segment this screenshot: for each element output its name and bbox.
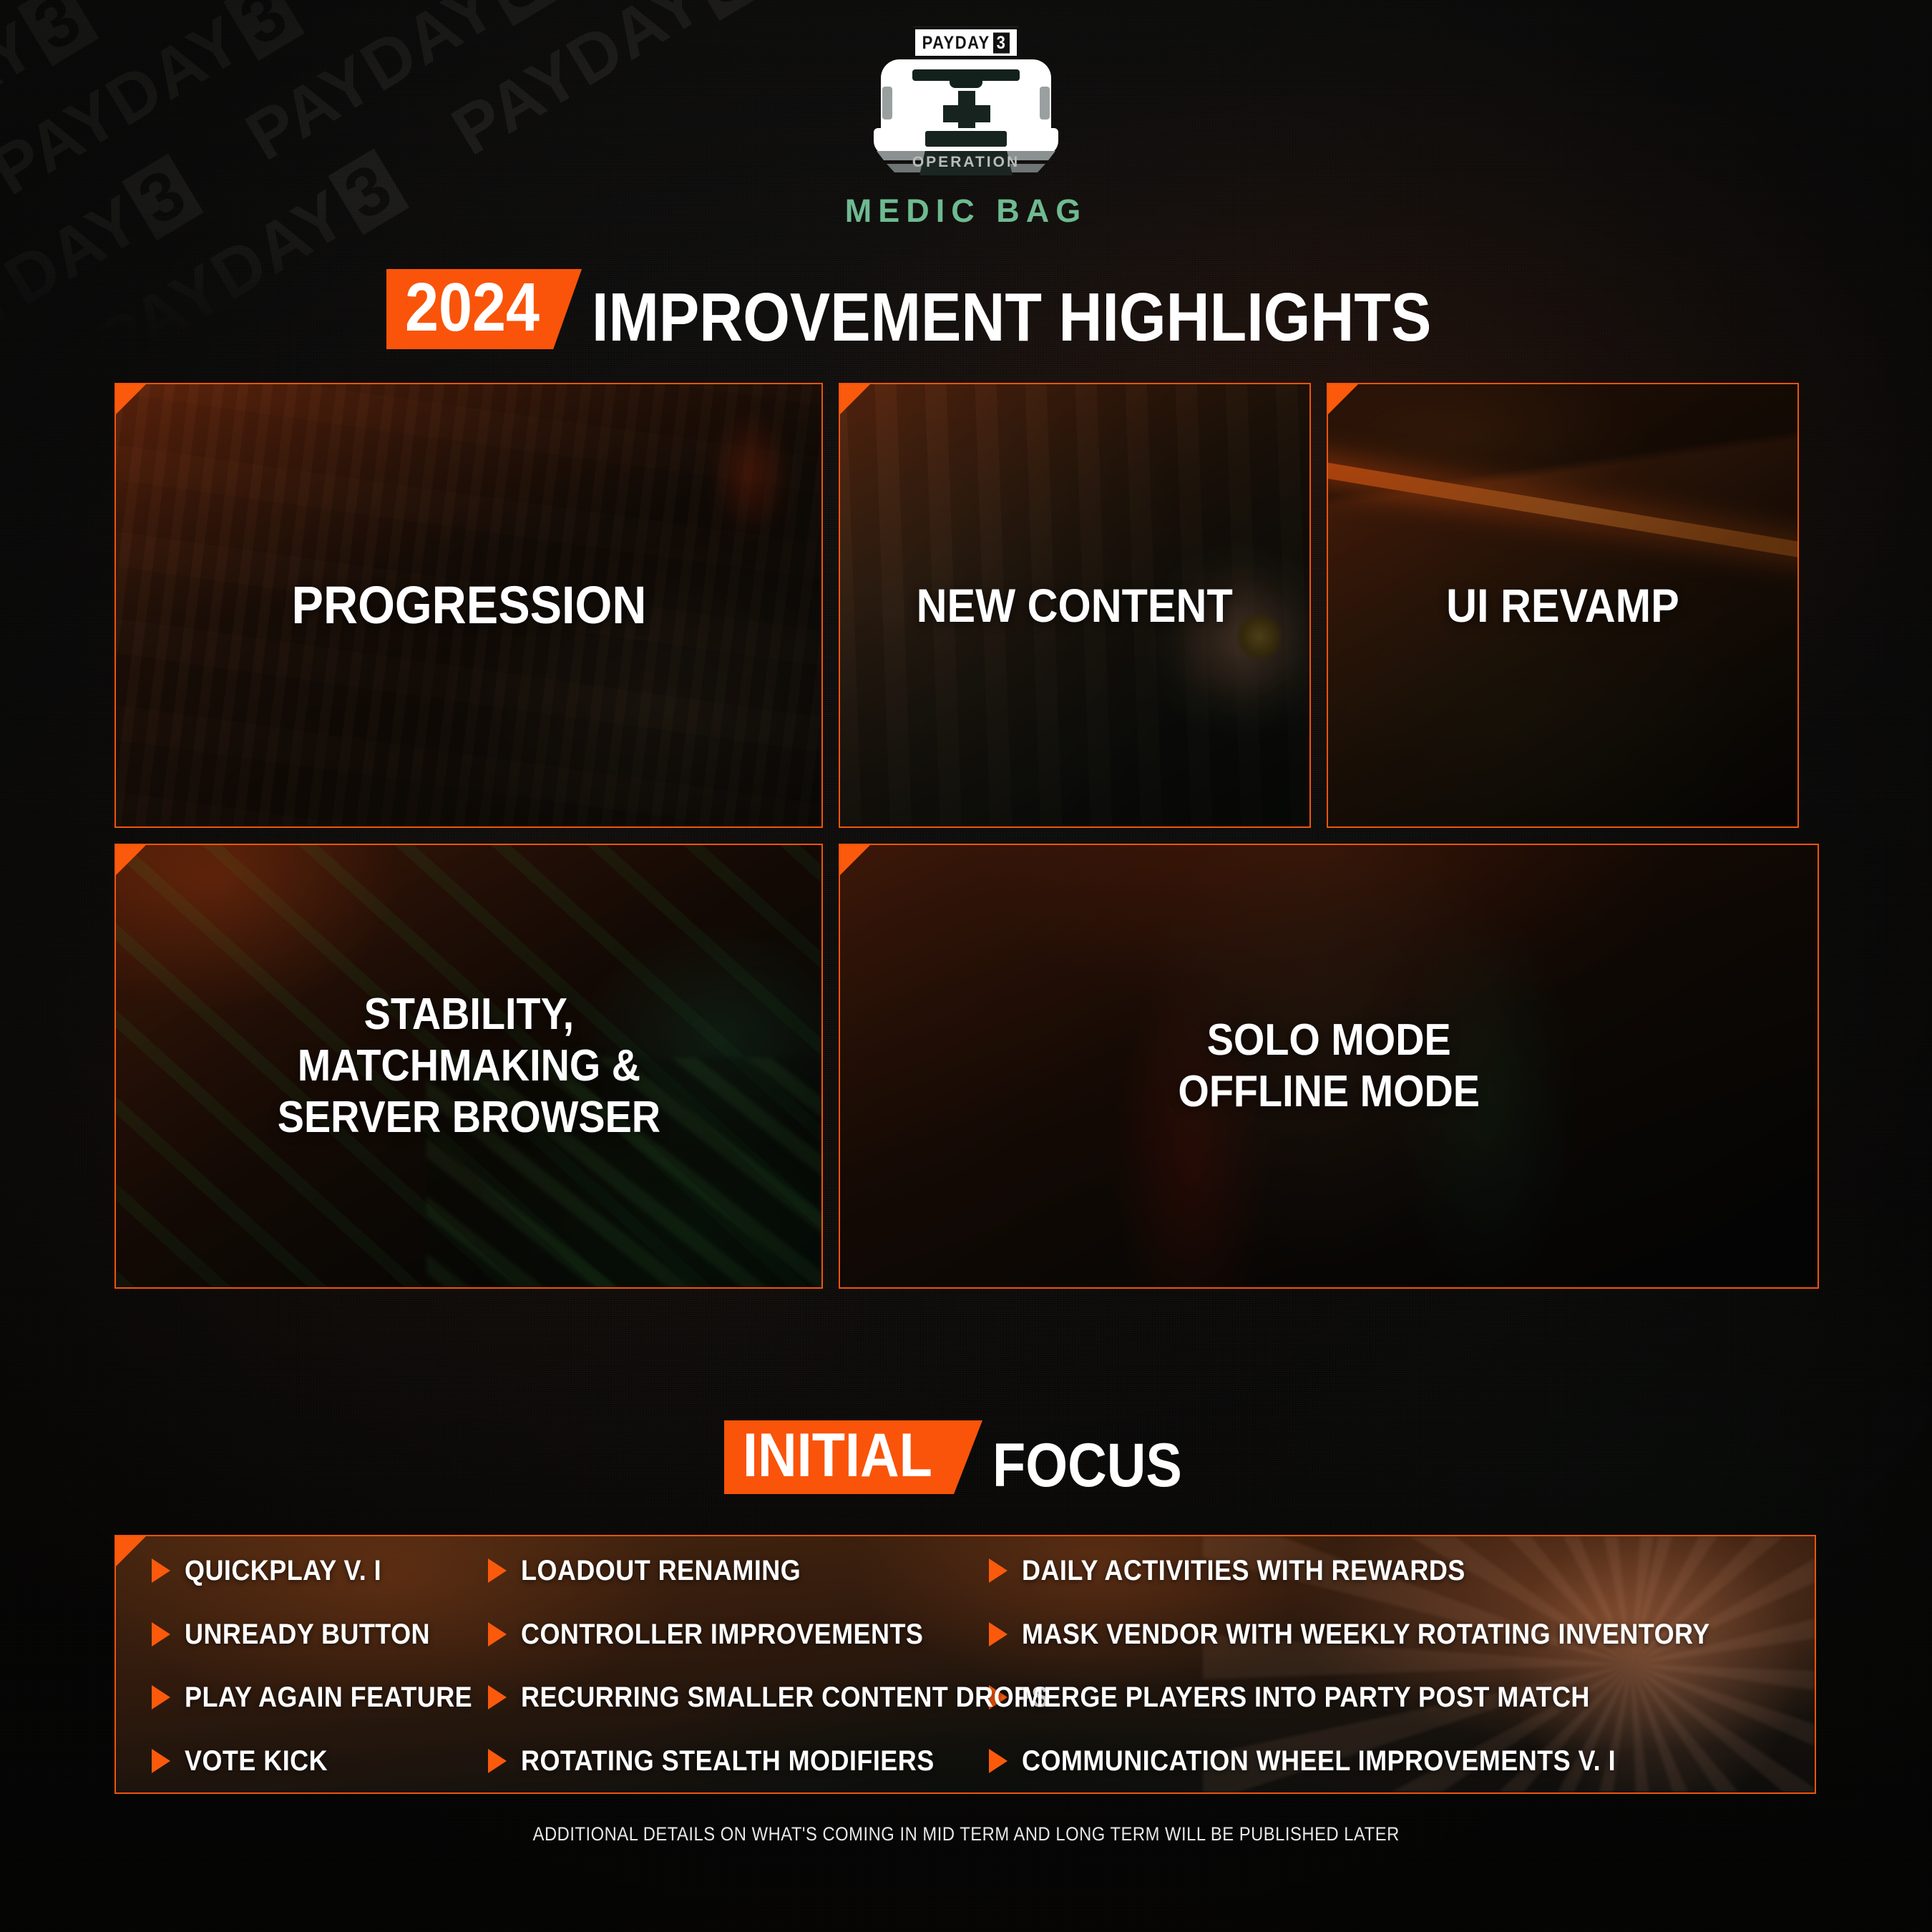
highlights-title-tag: 2024 (386, 269, 582, 349)
focus-title: INITIAL FOCUS (0, 1420, 1932, 1494)
focus-title-tag-text: INITIAL (743, 1428, 932, 1484)
list-item[interactable]: MASK VENDOR WITH WEEKLY ROTATING INVENTO… (989, 1620, 1662, 1649)
corner-accent-icon (840, 845, 870, 875)
list-item-label: COMMUNICATION WHEEL IMPROVEMENTS V. I (1022, 1747, 1682, 1775)
card-label: NEW CONTENT (880, 578, 1269, 633)
payday-wordmark: PAYDAY (922, 34, 990, 52)
bag-right-clasp (1040, 87, 1050, 119)
medic-cross-bar (943, 105, 990, 122)
list-item-label: MASK VENDOR WITH WEEKLY ROTATING INVENTO… (1022, 1620, 1786, 1649)
list-item[interactable]: QUICKPLAY V. I (152, 1556, 488, 1585)
initial-focus-panel: QUICKPLAY V. I UNREADY BUTTON PLAY AGAIN… (114, 1535, 1816, 1794)
list-item-label: RECURRING SMALLER CONTENT DROPS (521, 1683, 1108, 1712)
corner-accent-icon (840, 384, 870, 414)
highlight-card-progression[interactable]: PROGRESSION (114, 383, 823, 828)
arrow-right-icon (488, 1558, 507, 1583)
highlight-card-grid: PROGRESSION NEW CONTENT UI REVAMP (114, 383, 1819, 1289)
focus-title-rest: FOCUS (992, 1438, 1208, 1494)
arrow-right-icon (989, 1622, 1008, 1646)
arrow-right-icon (152, 1622, 170, 1646)
infographic-page: PAYDAY3PAYDAY3PAYDAY3PAYDAY3PAYDAY3PAYDA… (0, 0, 1932, 1932)
focus-column-3: DAILY ACTIVITIES WITH REWARDS MASK VENDO… (989, 1556, 1662, 1775)
arrow-right-icon (989, 1749, 1008, 1773)
list-item[interactable]: COMMUNICATION WHEEL IMPROVEMENTS V. I (989, 1747, 1662, 1775)
corner-accent-icon (116, 845, 146, 875)
list-item[interactable]: UNREADY BUTTON (152, 1620, 488, 1649)
card-label-text: PROGRESSION (291, 575, 646, 636)
arrow-right-icon (152, 1558, 170, 1583)
list-item[interactable]: DAILY ACTIVITIES WITH REWARDS (989, 1556, 1662, 1585)
arrow-right-icon (152, 1749, 170, 1773)
operation-label: OPERATION (869, 154, 1063, 171)
focus-title-rest-text: FOCUS (992, 1438, 1182, 1494)
list-item-label: UNREADY BUTTON (185, 1620, 457, 1649)
list-item-label: VOTE KICK (185, 1747, 343, 1775)
focus-columns: QUICKPLAY V. I UNREADY BUTTON PLAY AGAIN… (116, 1536, 1815, 1792)
card-label-line: STABILITY, (277, 989, 660, 1040)
medic-bag-icon: OPERATION (869, 59, 1063, 188)
list-item-label: PLAY AGAIN FEATURE (185, 1683, 504, 1712)
list-item[interactable]: VOTE KICK (152, 1747, 488, 1775)
bag-left-clasp (882, 87, 892, 119)
list-item-label: MERGE PLAYERS INTO PARTY POST MATCH (1022, 1683, 1653, 1712)
arrow-right-icon (488, 1749, 507, 1773)
list-item-label: ROTATING STEALTH MODIFIERS (521, 1747, 980, 1775)
card-label-text: NEW CONTENT (917, 578, 1233, 633)
card-label-line: OFFLINE MODE (1178, 1066, 1480, 1118)
list-item[interactable]: MERGE PLAYERS INTO PARTY POST MATCH (989, 1683, 1662, 1712)
list-item-label: QUICKPLAY V. I (185, 1556, 404, 1585)
list-item[interactable]: ROTATING STEALTH MODIFIERS (488, 1747, 989, 1775)
highlights-title: 2024 IMPROVEMENT HIGHLIGHTS (0, 269, 1932, 349)
bag-lower-slot (925, 131, 1007, 147)
list-item[interactable]: PLAY AGAIN FEATURE (152, 1683, 488, 1712)
arrow-right-icon (488, 1685, 507, 1709)
card-label: UI REVAMP (1415, 578, 1711, 633)
arrow-right-icon (488, 1622, 507, 1646)
corner-accent-icon (1328, 384, 1358, 414)
highlight-card-ui-revamp[interactable]: UI REVAMP (1327, 383, 1799, 828)
list-item[interactable]: RECURRING SMALLER CONTENT DROPS (488, 1683, 989, 1712)
operation-medic-bag-logo: PAYDAY 3 OPERATION MEDIC BAG (0, 29, 1932, 230)
footer-note-text: ADDITIONAL DETAILS ON WHAT'S COMING IN M… (532, 1823, 1399, 1845)
corner-accent-icon (116, 384, 146, 414)
highlights-title-rest: IMPROVEMENT HIGHLIGHTS (592, 286, 1546, 349)
focus-column-1: QUICKPLAY V. I UNREADY BUTTON PLAY AGAIN… (152, 1556, 488, 1775)
highlight-card-new-content[interactable]: NEW CONTENT (839, 383, 1311, 828)
list-item[interactable]: LOADOUT RENAMING (488, 1556, 989, 1585)
card-label-line: SOLO MODE (1178, 1015, 1480, 1066)
arrow-right-icon (152, 1685, 170, 1709)
focus-title-tag: INITIAL (724, 1420, 982, 1494)
operation-name: MEDIC BAG (845, 192, 1088, 230)
arrow-right-icon (989, 1558, 1008, 1583)
card-label: SOLO MODE OFFLINE MODE (1143, 1015, 1515, 1118)
list-item-label: LOADOUT RENAMING (521, 1556, 832, 1585)
card-label: STABILITY, MATCHMAKING & SERVER BROWSER (238, 989, 701, 1143)
list-item[interactable]: CONTROLLER IMPROVEMENTS (488, 1620, 989, 1649)
payday-number: 3 (993, 33, 1010, 54)
list-item-label: DAILY ACTIVITIES WITH REWARDS (1022, 1556, 1515, 1585)
highlights-title-tag-text: 2024 (405, 276, 540, 339)
highlight-card-solo-offline[interactable]: SOLO MODE OFFLINE MODE (839, 844, 1819, 1289)
card-label: PROGRESSION (253, 575, 685, 636)
focus-column-2: LOADOUT RENAMING CONTROLLER IMPROVEMENTS… (488, 1556, 989, 1775)
highlight-card-stability[interactable]: STABILITY, MATCHMAKING & SERVER BROWSER (114, 844, 823, 1289)
card-label-text: UI REVAMP (1446, 578, 1679, 633)
payday3-badge: PAYDAY 3 (913, 27, 1020, 59)
card-label-line: SERVER BROWSER (277, 1092, 660, 1143)
highlights-title-rest-text: IMPROVEMENT HIGHLIGHTS (592, 286, 1431, 349)
footer-note: ADDITIONAL DETAILS ON WHAT'S COMING IN M… (0, 1823, 1932, 1845)
list-item-label: CONTROLLER IMPROVEMENTS (521, 1620, 968, 1649)
bag-handle-notch (912, 69, 1020, 81)
card-label-line: MATCHMAKING & (277, 1040, 660, 1092)
